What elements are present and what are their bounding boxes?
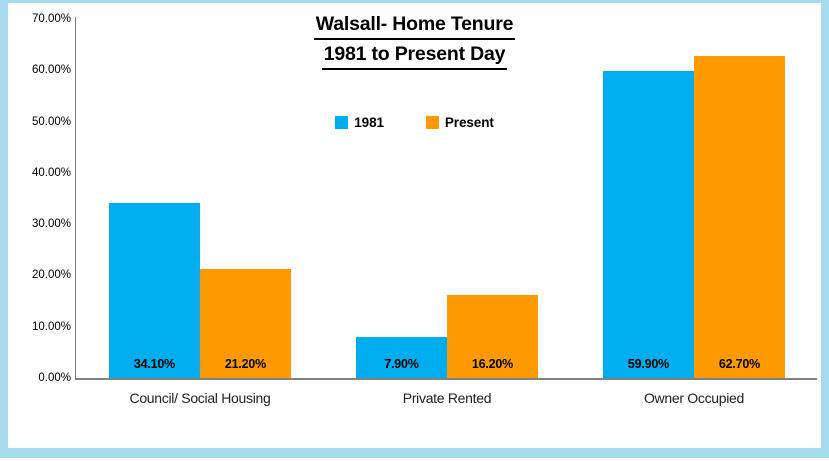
bar-1981[interactable]: 34.10% bbox=[109, 203, 200, 378]
bar-group: 7.90%16.20% bbox=[356, 19, 538, 378]
bar-value-label: 21.20% bbox=[200, 357, 291, 371]
y-axis-tick-label: 20.00% bbox=[11, 269, 71, 281]
y-axis-tick-label: 70.00% bbox=[11, 13, 71, 25]
bar-group: 34.10%21.20% bbox=[109, 19, 291, 378]
y-axis-tick-label: 30.00% bbox=[11, 218, 71, 230]
bar-1981[interactable]: 59.90% bbox=[603, 71, 694, 378]
chart-frame: Walsall- Home Tenure 1981 to Present Day… bbox=[0, 0, 829, 458]
bar-present[interactable]: 62.70% bbox=[694, 56, 785, 378]
bar-group: 59.90%62.70% bbox=[603, 19, 785, 378]
y-axis-tick-label: 50.00% bbox=[11, 116, 71, 128]
bar-value-label: 62.70% bbox=[694, 357, 785, 371]
y-axis-tick-label: 10.00% bbox=[11, 321, 71, 333]
bar-present[interactable]: 16.20% bbox=[447, 295, 538, 378]
y-axis-tick-label: 0.00% bbox=[11, 372, 71, 384]
bar-present[interactable]: 21.20% bbox=[200, 269, 291, 378]
x-axis-line bbox=[75, 378, 817, 380]
y-axis-tick-labels: 0.00%10.00%20.00%30.00%40.00%50.00%60.00… bbox=[8, 3, 71, 461]
bar-value-label: 34.10% bbox=[109, 357, 200, 371]
bar-value-label: 16.20% bbox=[447, 357, 538, 371]
x-axis-category-labels: Council/ Social HousingPrivate RentedOwn… bbox=[76, 390, 817, 414]
x-axis-category-label: Council/ Social Housing bbox=[109, 390, 291, 406]
y-axis-tick-label: 60.00% bbox=[11, 64, 71, 76]
x-axis-category-label: Private Rented bbox=[356, 390, 538, 406]
y-axis-tick-label: 40.00% bbox=[11, 167, 71, 179]
x-axis-category-label: Owner Occupied bbox=[603, 390, 785, 406]
bar-1981[interactable]: 7.90% bbox=[356, 337, 447, 378]
chart-plot-area: 34.10%21.20%7.90%16.20%59.90%62.70% bbox=[76, 19, 817, 378]
bar-value-label: 59.90% bbox=[603, 357, 694, 371]
chart-plot-surface: Walsall- Home Tenure 1981 to Present Day… bbox=[8, 3, 821, 448]
bar-value-label: 7.90% bbox=[356, 357, 447, 371]
